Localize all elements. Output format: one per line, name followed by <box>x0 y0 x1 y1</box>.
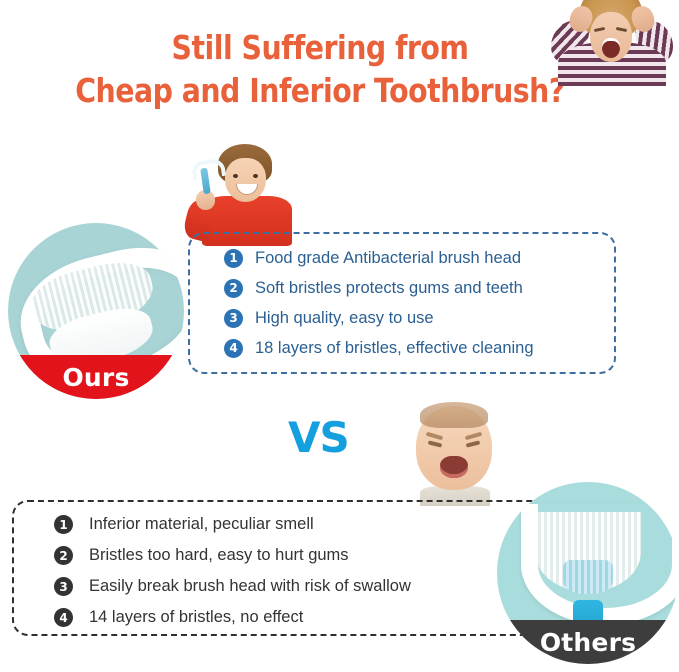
others-brush-inner-bristles <box>563 560 613 594</box>
ours-badge-label: Ours <box>8 355 184 399</box>
woman-screaming-mouth <box>602 38 620 58</box>
frustrated-woman-photo <box>544 0 679 86</box>
others-product-badge: Others <box>497 482 679 664</box>
bullet-number: 1 <box>224 249 243 268</box>
bullet-number: 3 <box>54 577 73 596</box>
list-item: 4 18 layers of bristles, effective clean… <box>224 333 614 363</box>
headline-line-1: Still Suffering from <box>172 28 469 67</box>
bullet-number: 2 <box>224 279 243 298</box>
baby-crying-mouth <box>440 456 468 478</box>
list-item-label: Easily break brush head with risk of swa… <box>89 578 411 595</box>
ours-product-badge: Ours <box>8 223 184 399</box>
list-item-label: 14 layers of bristles, no effect <box>89 609 303 626</box>
infographic-canvas: Still Suffering from Cheap and Inferior … <box>0 0 679 672</box>
list-item-label: Bristles too hard, easy to hurt gums <box>89 547 349 564</box>
others-badge-label: Others <box>497 620 679 664</box>
crying-baby-photo <box>394 402 514 506</box>
bullet-number: 4 <box>54 608 73 627</box>
bullet-number: 3 <box>224 309 243 328</box>
bullet-number: 2 <box>54 546 73 565</box>
bullet-number: 4 <box>224 339 243 358</box>
boy-face <box>225 158 266 202</box>
page-title: Still Suffering from Cheap and Inferior … <box>45 26 595 112</box>
versus-label: VS <box>288 413 349 462</box>
headline-line-2: Cheap and Inferior Toothbrush? <box>45 69 595 112</box>
others-toothbrush-image <box>521 504 655 636</box>
baby-hair <box>420 402 488 428</box>
list-item: 1 Food grade Antibacterial brush head <box>224 243 614 273</box>
list-item: 3 High quality, easy to use <box>224 303 614 333</box>
list-item-label: 18 layers of bristles, effective cleanin… <box>255 340 534 357</box>
boy-right-eye <box>253 174 258 178</box>
list-item: 2 Soft bristles protects gums and teeth <box>224 273 614 303</box>
boy-left-eye <box>233 174 238 178</box>
list-item-label: High quality, easy to use <box>255 310 434 327</box>
bullet-number: 1 <box>54 515 73 534</box>
smiling-boy-with-toothbrush-photo <box>178 142 310 246</box>
ours-feature-list: 1 Food grade Antibacterial brush head 2 … <box>190 234 614 363</box>
list-item-label: Inferior material, peculiar smell <box>89 516 314 533</box>
list-item-label: Food grade Antibacterial brush head <box>255 250 521 267</box>
ours-feature-box: 1 Food grade Antibacterial brush head 2 … <box>188 232 616 374</box>
list-item-label: Soft bristles protects gums and teeth <box>255 280 523 297</box>
